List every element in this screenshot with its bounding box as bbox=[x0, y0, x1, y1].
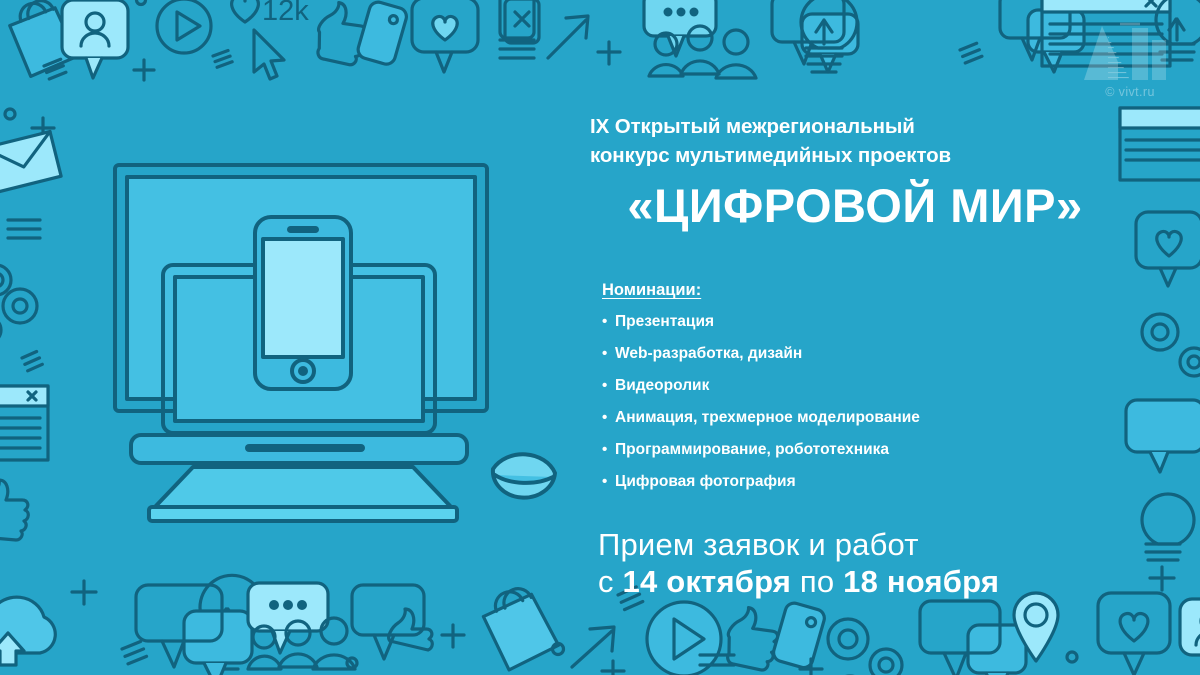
envelope-icon bbox=[0, 132, 61, 193]
smartphone-icon bbox=[255, 217, 351, 389]
thumbs-up-icon bbox=[389, 609, 433, 650]
shopping-bag-icon bbox=[479, 582, 562, 673]
gears-icon bbox=[0, 265, 37, 343]
play-circle-icon bbox=[647, 602, 721, 675]
people-group-icon bbox=[248, 618, 355, 669]
circle-dot-icon bbox=[553, 644, 564, 655]
bullet-icon: • bbox=[602, 378, 615, 393]
deadline-start-date: 14 октября bbox=[623, 564, 792, 599]
lines-icon bbox=[960, 43, 982, 63]
mouse-icon bbox=[493, 454, 555, 497]
deadline-end-date: 18 ноября bbox=[843, 564, 999, 599]
plus-icon bbox=[602, 661, 624, 675]
smartphone-icon bbox=[356, 0, 409, 66]
watermark: © vivt.ru bbox=[1076, 22, 1184, 106]
heart-bubble-icon bbox=[412, 0, 478, 72]
browser-window-icon bbox=[1042, 0, 1170, 66]
deadline-prefix: с bbox=[598, 564, 623, 599]
list-item: • Цифровая фотография bbox=[602, 474, 1160, 490]
circle-dot-icon bbox=[1067, 652, 1077, 662]
event-kicker: IX Открытый межрегиональный конкурс муль… bbox=[590, 112, 1160, 170]
lines-icon bbox=[122, 642, 147, 664]
user-bubble-icon bbox=[62, 0, 128, 78]
nominations-heading: Номинации: bbox=[602, 281, 1160, 300]
lightbulb-icon bbox=[801, 0, 857, 72]
plus-icon bbox=[442, 625, 464, 647]
devices-illustration bbox=[105, 155, 565, 525]
list-item-label: Программирование, робототехника bbox=[615, 442, 889, 458]
list-item: • Видеоролик bbox=[602, 378, 1160, 394]
decor-band-left bbox=[0, 100, 120, 580]
document-x-icon bbox=[500, 0, 539, 43]
chat-bubbles-icon bbox=[1000, 0, 1084, 72]
bullet-icon: • bbox=[602, 346, 615, 361]
people-group-icon bbox=[649, 26, 756, 78]
plus-icon bbox=[32, 118, 54, 140]
nominations-section: Номинации: • Презентация • Web-разработк… bbox=[590, 281, 1160, 490]
lightbulb-icon bbox=[200, 575, 264, 669]
lines-icon bbox=[500, 40, 534, 58]
watermark-caption: © vivt.ru bbox=[1076, 85, 1184, 99]
circle-dot-icon bbox=[137, 0, 146, 5]
chat-dots-icon bbox=[644, 0, 716, 56]
smartphone-icon bbox=[771, 601, 826, 670]
list-item-label: Web-разработка, дизайн bbox=[615, 346, 802, 362]
bullet-icon: • bbox=[602, 474, 615, 489]
vivt-monogram-icon bbox=[1078, 22, 1182, 84]
content-column: IX Открытый межрегиональный конкурс муль… bbox=[590, 112, 1160, 600]
heart-bubble-icon bbox=[1098, 593, 1170, 675]
list-item: • Анимация, трехмерное моделирование bbox=[602, 410, 1160, 426]
chat-bubbles-icon bbox=[352, 585, 424, 659]
thumbs-up-icon bbox=[0, 480, 28, 540]
lines-icon bbox=[700, 655, 734, 665]
location-pin-icon bbox=[1014, 593, 1058, 661]
user-bubble-icon bbox=[1180, 599, 1200, 655]
browser-window-icon bbox=[0, 386, 48, 460]
arrow-up-right-icon bbox=[548, 16, 588, 58]
thumbs-up-icon bbox=[314, 0, 369, 66]
lines-icon bbox=[8, 220, 40, 238]
deadline-intro: Прием заявок и работ bbox=[598, 526, 1160, 563]
play-circle-icon bbox=[157, 0, 211, 53]
poster-canvas: 12k bbox=[0, 0, 1200, 675]
chat-bubbles-icon bbox=[136, 585, 252, 675]
bullet-icon: • bbox=[602, 442, 615, 457]
plus-icon bbox=[134, 60, 154, 80]
plus-icon bbox=[800, 659, 822, 675]
list-item-label: Цифровая фотография bbox=[615, 474, 796, 490]
circle-dot-icon bbox=[5, 109, 15, 119]
heart-icon bbox=[232, 0, 259, 22]
plus-icon bbox=[72, 581, 96, 604]
chat-dots-icon bbox=[248, 583, 328, 653]
bullet-icon: • bbox=[602, 410, 615, 425]
thumbs-up-icon bbox=[724, 605, 781, 671]
chat-bubbles-icon bbox=[920, 601, 1026, 675]
deadline-middle: по bbox=[791, 564, 843, 599]
nominations-list: • Презентация • Web-разработка, дизайн •… bbox=[602, 314, 1160, 490]
lightbulb-icon bbox=[1156, 0, 1200, 60]
bullet-icon: • bbox=[602, 314, 615, 329]
arrow-up-right-icon bbox=[572, 627, 614, 667]
list-item: • Web-разработка, дизайн bbox=[602, 346, 1160, 362]
decor-band-top: 12k bbox=[0, 0, 1200, 110]
chat-bubbles-icon bbox=[772, 0, 858, 72]
lines-icon bbox=[44, 59, 66, 79]
list-item-label: Анимация, трехмерное моделирование bbox=[615, 410, 920, 426]
shopping-bag-icon bbox=[6, 0, 80, 78]
plus-icon bbox=[598, 42, 620, 64]
circle-dot-icon bbox=[347, 658, 357, 668]
list-item: • Презентация bbox=[602, 314, 1160, 330]
heart-counter-label: 12k bbox=[262, 0, 309, 27]
list-item: • Программирование, робототехника bbox=[602, 442, 1160, 458]
deadline-section: Прием заявок и работ с 14 октября по 18 … bbox=[590, 526, 1160, 600]
cursor-arrow-icon bbox=[254, 30, 284, 79]
gears-icon bbox=[828, 619, 902, 675]
list-item-label: Презентация bbox=[615, 314, 714, 330]
lines-icon bbox=[22, 351, 42, 370]
list-item-label: Видеоролик bbox=[615, 378, 709, 394]
lines-icon bbox=[213, 51, 232, 68]
deadline-range: с 14 октября по 18 ноября bbox=[598, 563, 1160, 600]
cloud-upload-icon bbox=[0, 597, 55, 665]
page-title: «ЦИФРОВОЙ МИР» bbox=[590, 182, 1160, 229]
